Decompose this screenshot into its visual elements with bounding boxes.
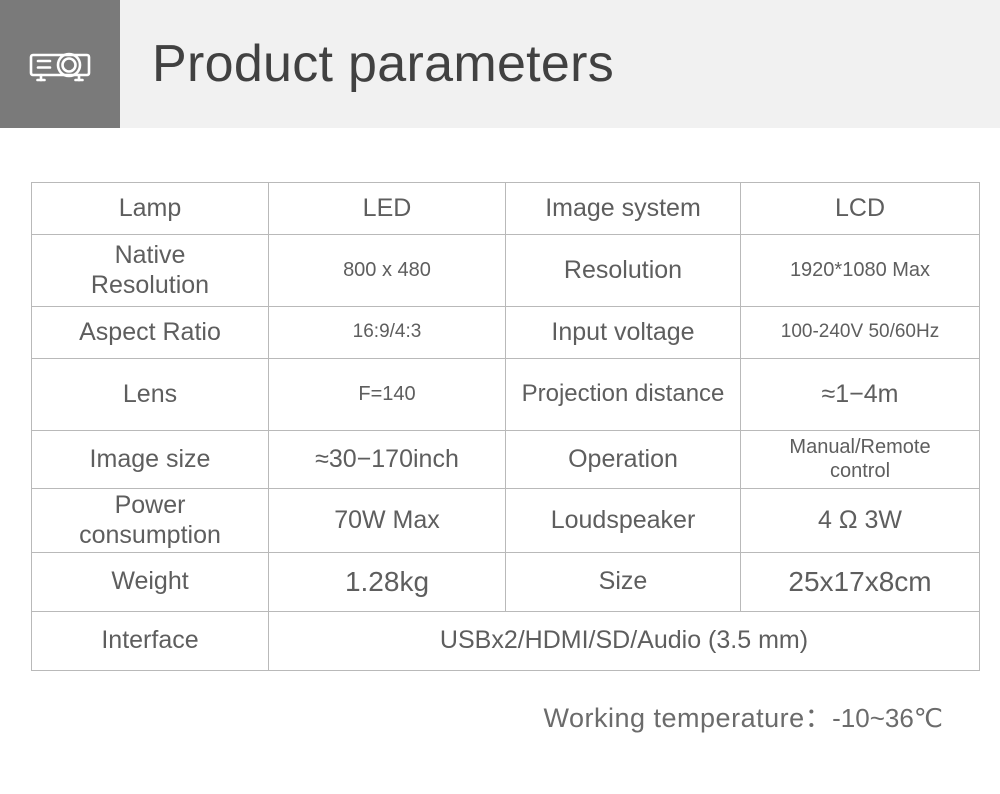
spec-value-aspect-ratio: 16:9/4:3 (269, 307, 506, 359)
spec-label-lens: Lens (32, 359, 269, 431)
spec-value-native-resolution: 800 x 480 (269, 235, 506, 307)
table-row: Aspect Ratio 16:9/4:3 Input voltage 100-… (32, 307, 980, 359)
spec-label-resolution: Resolution (506, 235, 741, 307)
spec-value-weight: 1.28kg (269, 553, 506, 612)
spec-label-size: Size (506, 553, 741, 612)
spec-value-image-system: LCD (741, 183, 980, 235)
spec-label-input-voltage: Input voltage (506, 307, 741, 359)
spec-label-lamp: Lamp (32, 183, 269, 235)
spec-label-weight: Weight (32, 553, 269, 612)
table-row: Lamp LED Image system LCD (32, 183, 980, 235)
table-row: NativeResolution 800 x 480 Resolution 19… (32, 235, 980, 307)
spec-value-size: 25x17x8cm (741, 553, 980, 612)
working-temperature-note: Working temperature：-10~36℃ (0, 696, 943, 735)
spec-value-power-consumption: 70W Max (269, 489, 506, 553)
spec-label-power-consumption: Powerconsumption (32, 489, 269, 553)
spec-label-aspect-ratio: Aspect Ratio (32, 307, 269, 359)
spec-label-projection-distance: Projection distance (506, 359, 741, 431)
spec-value-lamp: LED (269, 183, 506, 235)
spec-value-projection-distance: ≈1−4m (741, 359, 980, 431)
spec-value-interface: USBx2/HDMI/SD/Audio (3.5 mm) (269, 612, 980, 671)
table-row: Lens F=140 Projection distance ≈1−4m (32, 359, 980, 431)
spec-label-interface: Interface (32, 612, 269, 671)
spec-label-operation: Operation (506, 431, 741, 489)
table-row: Powerconsumption 70W Max Loudspeaker 4 Ω… (32, 489, 980, 553)
table-row: Weight 1.28kg Size 25x17x8cm (32, 553, 980, 612)
spec-value-lens: F=140 (269, 359, 506, 431)
spec-value-input-voltage: 100-240V 50/60Hz (741, 307, 980, 359)
table-row: Image size ≈30−170inch Operation Manual/… (32, 431, 980, 489)
working-temperature-label: Working temperature： (544, 703, 833, 733)
projector-icon-block (0, 0, 120, 128)
spec-value-resolution: 1920*1080 Max (741, 235, 980, 307)
spec-value-operation: Manual/Remotecontrol (741, 431, 980, 489)
page-header: Product parameters (0, 0, 1000, 128)
spec-value-loudspeaker: 4 Ω 3W (741, 489, 980, 553)
table-row: Interface USBx2/HDMI/SD/Audio (3.5 mm) (32, 612, 980, 671)
product-parameters-table: Lamp LED Image system LCD NativeResoluti… (31, 182, 980, 671)
working-temperature-value: -10~36℃ (832, 703, 943, 733)
spec-label-native-resolution: NativeResolution (32, 235, 269, 307)
spec-label-loudspeaker: Loudspeaker (506, 489, 741, 553)
spec-label-image-size: Image size (32, 431, 269, 489)
page-title: Product parameters (152, 0, 614, 128)
projector-icon (29, 44, 91, 84)
spec-label-image-system: Image system (506, 183, 741, 235)
spec-value-image-size: ≈30−170inch (269, 431, 506, 489)
